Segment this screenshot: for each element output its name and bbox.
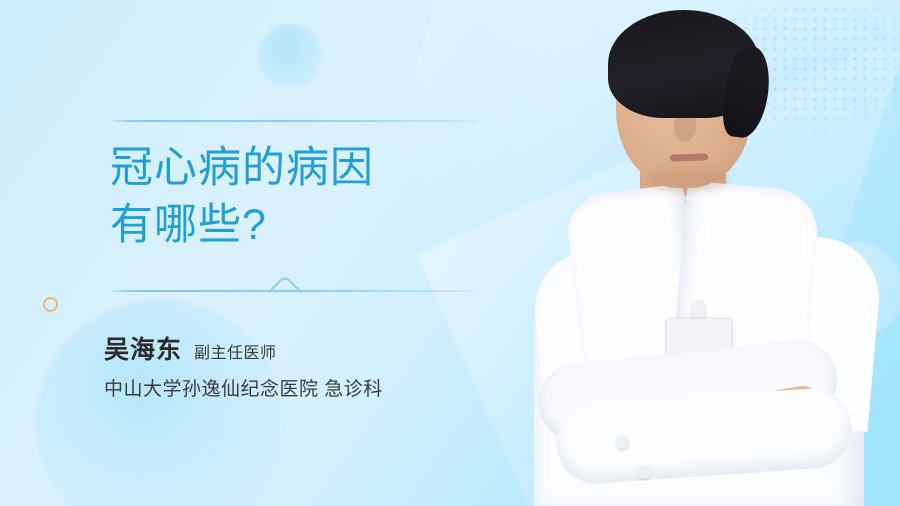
doctor-name: 吴海东 <box>104 330 182 366</box>
photo-mouth <box>670 153 708 161</box>
doctor-identity: 吴海东 副主任医师 <box>104 330 277 366</box>
doctor-affiliation: 中山大学孙逸仙纪念医院 急诊科 <box>104 374 383 401</box>
orange-ring-icon <box>43 297 58 312</box>
doctor-photo <box>498 0 900 506</box>
decorative-circle-top-left <box>258 24 322 88</box>
cover-canvas: 冠心病的病因 有哪些? 吴海东 副主任医师 中山大学孙逸仙纪念医院 急诊科 <box>0 0 900 506</box>
divider-top <box>110 120 476 122</box>
photo-chin-shadow <box>648 166 728 192</box>
doctor-rank: 副主任医师 <box>194 339 277 363</box>
page-title: 冠心病的病因 有哪些? <box>110 140 540 254</box>
photo-coat-button-upper <box>616 436 629 449</box>
divider-bottom-notch <box>268 277 302 293</box>
photo-coat-button-lower <box>638 466 651 479</box>
